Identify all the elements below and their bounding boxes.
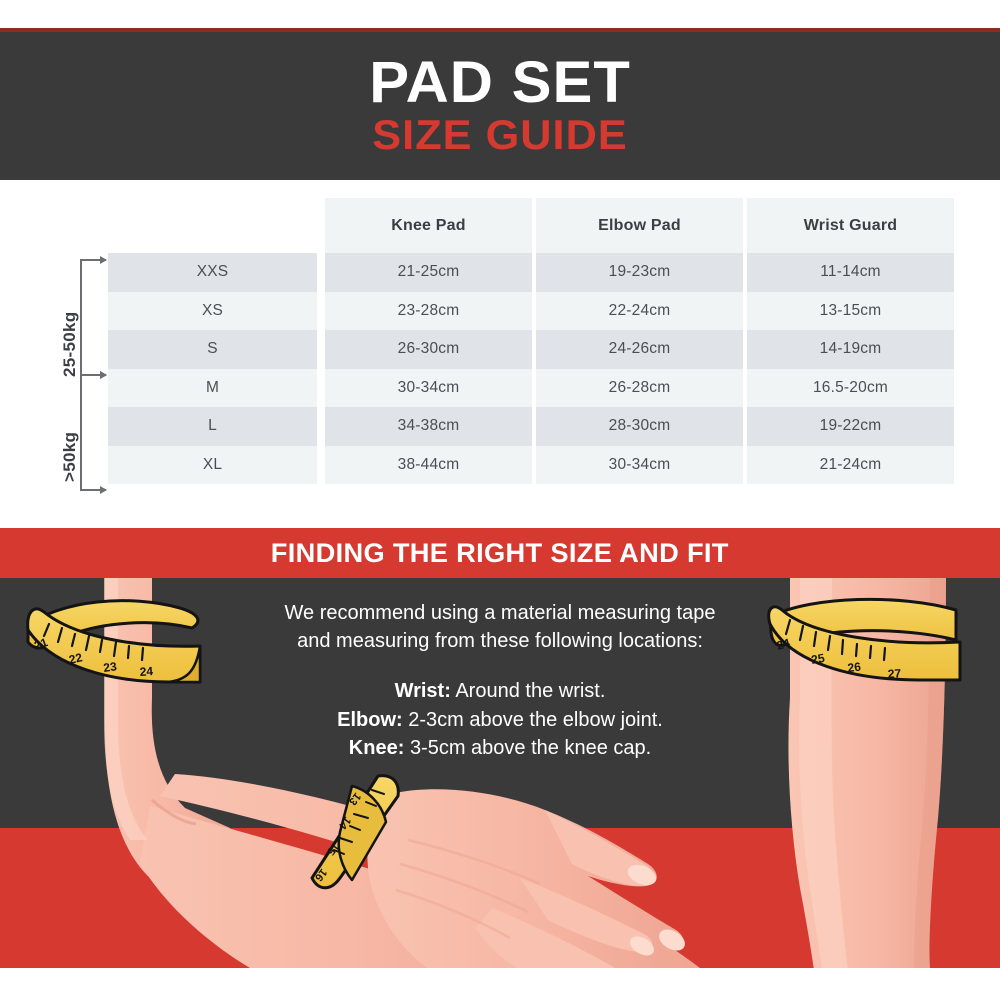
table-header-size	[108, 198, 317, 253]
fit-section-banner: FINDING THE RIGHT SIZE AND FIT	[0, 528, 1000, 578]
table-header-elbow-pad: Elbow Pad	[536, 198, 743, 253]
table-header-wrist-guard: Wrist Guard	[747, 198, 954, 253]
table-cell-wrist-xl: 21-24cm	[747, 446, 954, 485]
table-cell-knee-l: 34-38cm	[325, 407, 532, 446]
table-cell-wrist-xs: 13-15cm	[747, 292, 954, 331]
hand-illustration	[367, 789, 688, 968]
table-column-elbow-pad: Elbow Pad 19-23cm 22-24cm 24-26cm 26-28c…	[536, 198, 743, 484]
size-table: XXS XS S M L XL Knee Pad 21-25cm 23-28cm…	[0, 190, 1000, 510]
page-subtitle: SIZE GUIDE	[372, 114, 627, 157]
table-cell-elbow-m: 26-28cm	[536, 369, 743, 408]
tape-tick-label-25: 25	[810, 651, 826, 667]
table-cell-size-l: L	[108, 407, 317, 446]
table-column-knee-pad: Knee Pad 21-25cm 23-28cm 26-30cm 30-34cm…	[325, 198, 532, 484]
table-cell-elbow-s: 24-26cm	[536, 330, 743, 369]
table-cell-elbow-xxs: 19-23cm	[536, 253, 743, 292]
tape-tick-label-26: 26	[847, 660, 862, 675]
table-cell-wrist-s: 14-19cm	[747, 330, 954, 369]
table-cell-knee-xxs: 21-25cm	[325, 253, 532, 292]
table-column-size: XXS XS S M L XL	[108, 198, 317, 484]
table-cell-knee-xl: 38-44cm	[325, 446, 532, 485]
table-cell-elbow-xl: 30-34cm	[536, 446, 743, 485]
table-column-wrist-guard: Wrist Guard 11-14cm 13-15cm 14-19cm 16.5…	[747, 198, 954, 484]
tape-tick-label-27: 27	[887, 666, 901, 681]
table-cell-knee-s: 26-30cm	[325, 330, 532, 369]
table-cell-elbow-xs: 22-24cm	[536, 292, 743, 331]
size-guide-infographic: PAD SET SIZE GUIDE 25-50kg >50kg XXS XS …	[0, 0, 1000, 1000]
tape-tick-label-24: 24	[139, 664, 154, 679]
table-cell-elbow-l: 28-30cm	[536, 407, 743, 446]
fit-section-title: FINDING THE RIGHT SIZE AND FIT	[271, 538, 729, 569]
table-cell-wrist-m: 16.5-20cm	[747, 369, 954, 408]
tape-tick-label-23: 23	[102, 659, 117, 675]
table-cell-knee-m: 30-34cm	[325, 369, 532, 408]
table-cell-knee-xs: 23-28cm	[325, 292, 532, 331]
page-header: PAD SET SIZE GUIDE	[0, 28, 1000, 180]
page-title: PAD SET	[369, 55, 631, 112]
table-cell-size-m: M	[108, 369, 317, 408]
table-cell-size-xs: XS	[108, 292, 317, 331]
fit-illustration-section: 21 22 23 24 13	[0, 578, 1000, 968]
table-cell-size-xxs: XXS	[108, 253, 317, 292]
table-header-knee-pad: Knee Pad	[325, 198, 532, 253]
measurement-illustration: 21 22 23 24 13	[0, 578, 1000, 968]
table-cell-wrist-l: 19-22cm	[747, 407, 954, 446]
table-cell-size-xl: XL	[108, 446, 317, 485]
table-cell-size-s: S	[108, 330, 317, 369]
table-cell-wrist-xxs: 11-14cm	[747, 253, 954, 292]
elbow-measuring-tape: 21 22 23 24	[28, 601, 200, 682]
